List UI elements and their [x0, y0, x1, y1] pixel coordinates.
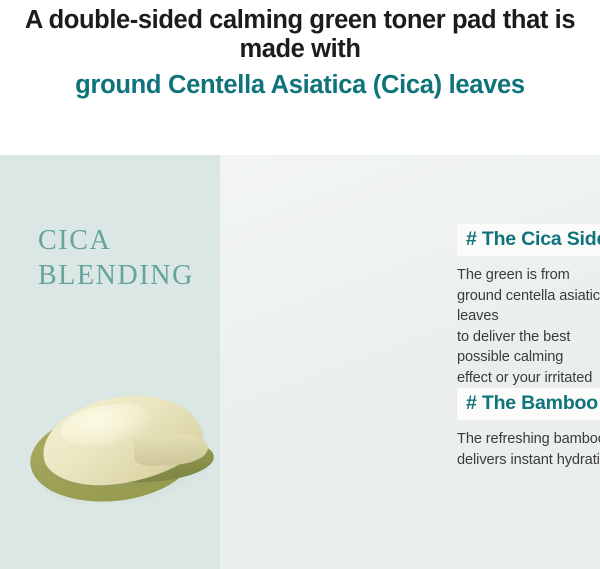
content-section: CICA BLENDING # The Cica Side The green …	[0, 155, 600, 569]
section-cica-side: # The Cica Side The green is from ground…	[457, 224, 600, 409]
section-heading-bamboo: # The Bamboo Side	[457, 388, 600, 420]
headline-primary: A double-sided calming green toner pad t…	[0, 6, 600, 64]
section-body-bamboo: The refreshing bamboo side delivers inst…	[457, 429, 600, 470]
header-section: A double-sided calming green toner pad t…	[0, 0, 600, 155]
right-panel: # The Cica Side The green is from ground…	[220, 155, 600, 569]
headline-accent: ground Centella Asiatica (Cica) leaves	[0, 64, 600, 100]
section-heading-cica: # The Cica Side	[457, 224, 600, 256]
product-infographic: A double-sided calming green toner pad t…	[0, 0, 600, 569]
left-panel: CICA BLENDING	[0, 155, 220, 569]
brand-label: CICA BLENDING	[38, 223, 194, 293]
toner-pad-photo	[8, 383, 220, 523]
section-bamboo-side: # The Bamboo Side The refreshing bamboo …	[457, 388, 600, 470]
section-body-cica: The green is from ground centella asiati…	[457, 265, 600, 409]
